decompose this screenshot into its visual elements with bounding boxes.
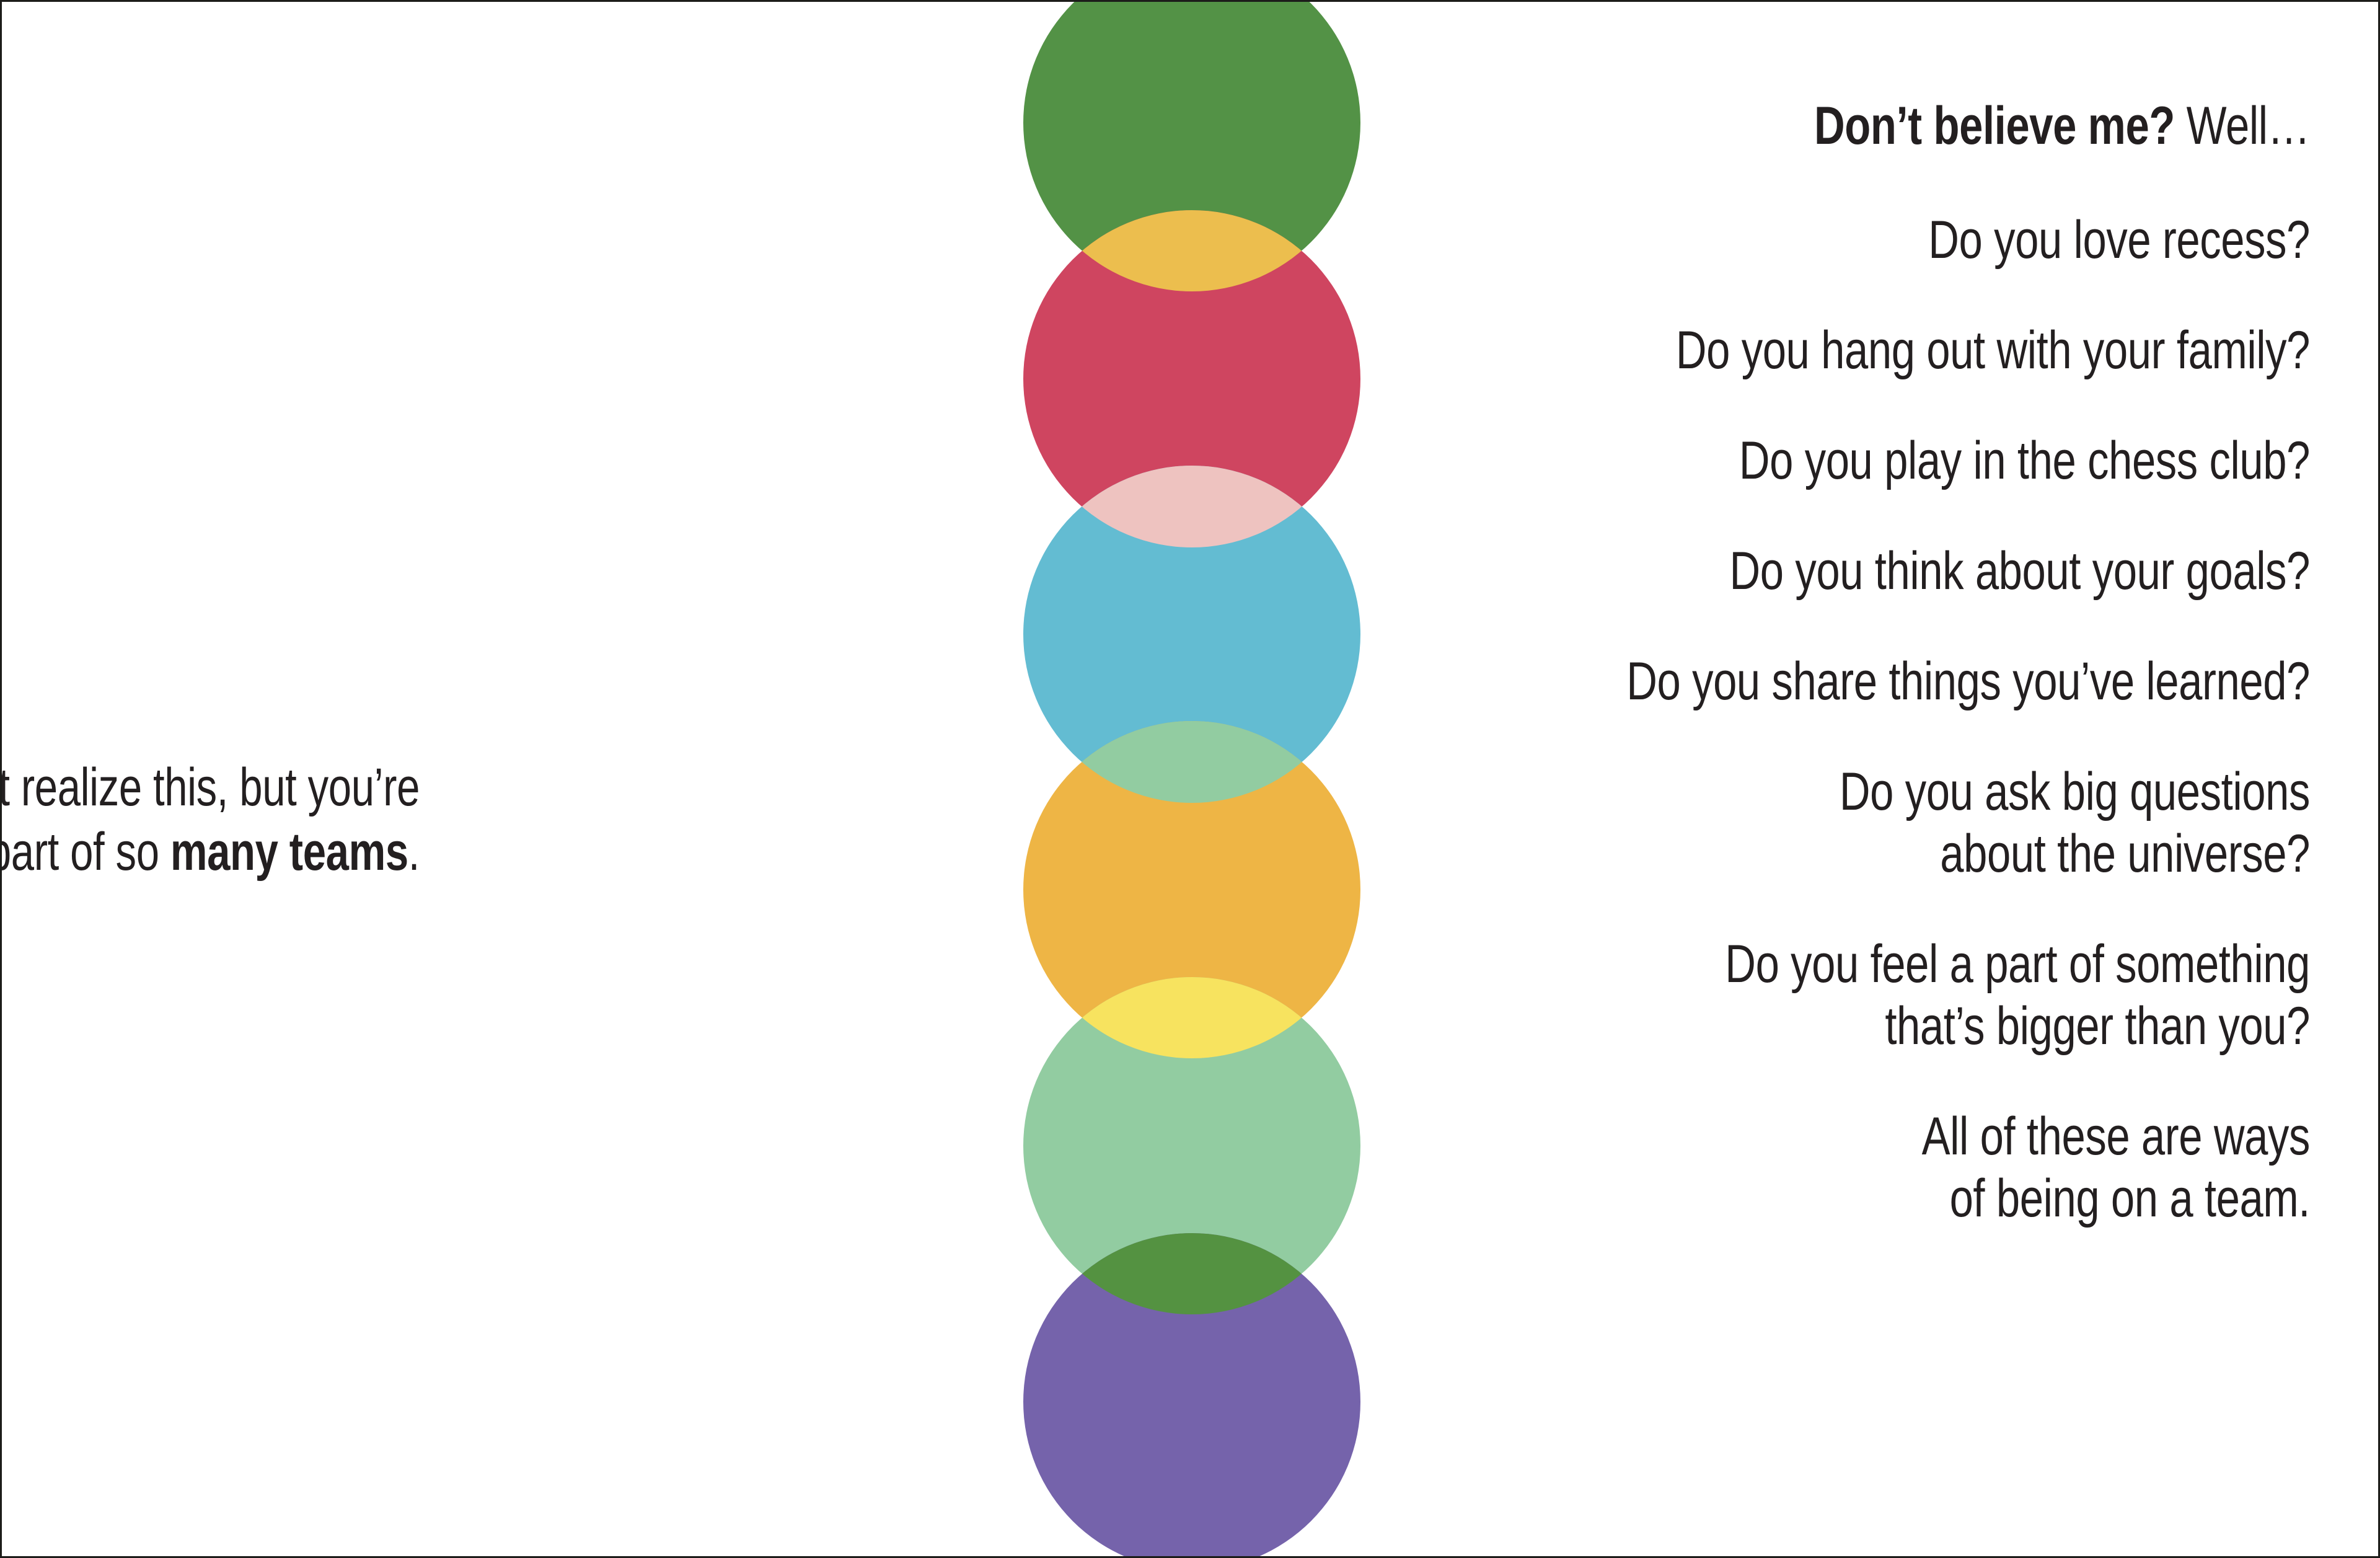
intro-line-1: You might not realize this, but you’re [0, 755, 420, 820]
question-share: Do you share things you’ve learned? [1269, 650, 2310, 712]
intro-text: You might not realize this, but you’re a… [0, 755, 420, 884]
question-universe: Do you ask big questions about the unive… [1269, 761, 2310, 885]
intro-line-2-after: . [408, 822, 420, 882]
question-family: Do you hang out with your family? [1269, 319, 2310, 381]
lead-rest: Well… [2175, 96, 2310, 156]
circle-purple [1023, 1233, 1360, 1558]
lead-line: Don’t believe me? Well… [1269, 95, 2310, 157]
lead-strong: Don’t believe me? [1814, 96, 2175, 156]
question-goals: Do you think about your goals? [1269, 540, 2310, 602]
closing-statement: All of these are ways of being on a team… [1269, 1105, 2310, 1229]
question-column: Don’t believe me? Well… Do you love rece… [1269, 95, 2310, 1229]
question-recess: Do you love recess? [1269, 209, 2310, 271]
intro-line-2-strong: many teams [170, 822, 408, 882]
intro-line-2-before: already a part of so [0, 822, 170, 882]
overlap-mint-purple [1023, 1233, 1360, 1558]
question-chess-club: Do you play in the chess club? [1269, 430, 2310, 492]
question-bigger: Do you feel a part of something that’s b… [1269, 933, 2310, 1057]
poster-page: You might not realize this, but you’re a… [0, 0, 2380, 1558]
intro-line-2: already a part of so many teams. [0, 820, 420, 884]
